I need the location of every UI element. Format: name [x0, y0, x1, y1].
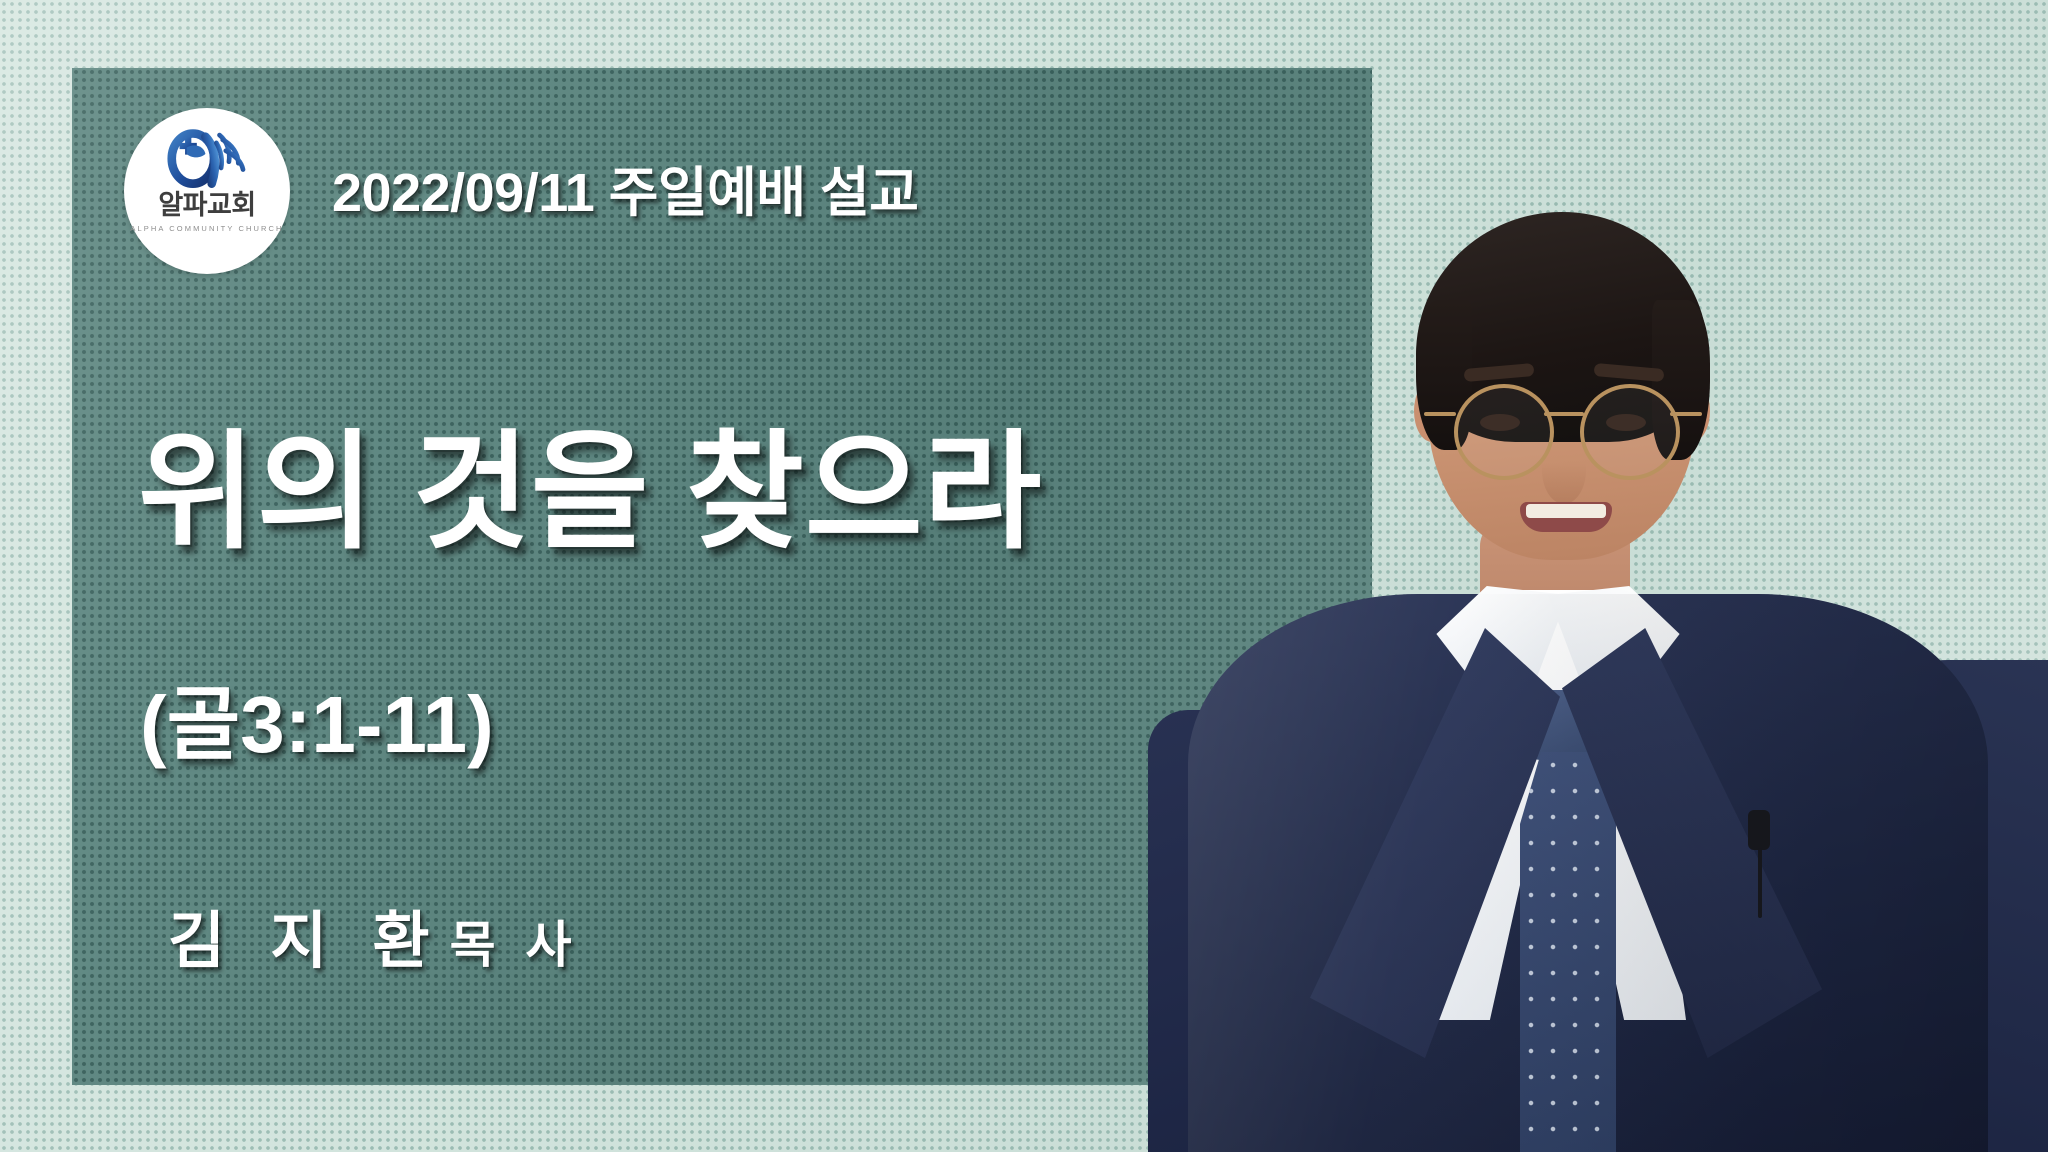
glasses-temple-right-icon: [1670, 412, 1702, 416]
scripture-reference: (골3:1-11): [140, 660, 494, 776]
presenter-figure: [1128, 190, 2048, 1152]
alpha-cross-leaf-icon: [160, 124, 254, 190]
glasses-temple-left-icon: [1424, 412, 1456, 416]
microphone-wire: [1758, 848, 1762, 918]
presenter-mouth: [1520, 502, 1612, 532]
sermon-title: 위의 것을 찾으라: [138, 388, 1042, 573]
speaker-role: 목 사: [450, 905, 580, 977]
service-date-line: 2022/09/11 주일예배 설교: [332, 148, 918, 227]
presenter-jacket-sheen: [1188, 594, 1988, 1152]
sermon-title-slide: 알파교회 ALPHA COMMUNITY CHURCH 2022/09/11 주…: [0, 0, 2048, 1152]
glasses-lens-right-icon: [1580, 384, 1680, 480]
glasses-bridge-icon: [1544, 412, 1584, 416]
presenter-teeth: [1526, 504, 1606, 518]
church-logo-badge: 알파교회 ALPHA COMMUNITY CHURCH: [124, 108, 290, 274]
logo-name-en: ALPHA COMMUNITY CHURCH: [130, 224, 283, 233]
glasses-lens-left-icon: [1454, 384, 1554, 480]
lapel-microphone-icon: [1748, 810, 1770, 850]
logo-name-kr: 알파교회: [158, 192, 255, 219]
speaker-block: 김 지 환 목 사: [168, 890, 579, 980]
speaker-name: 김 지 환: [168, 890, 444, 980]
